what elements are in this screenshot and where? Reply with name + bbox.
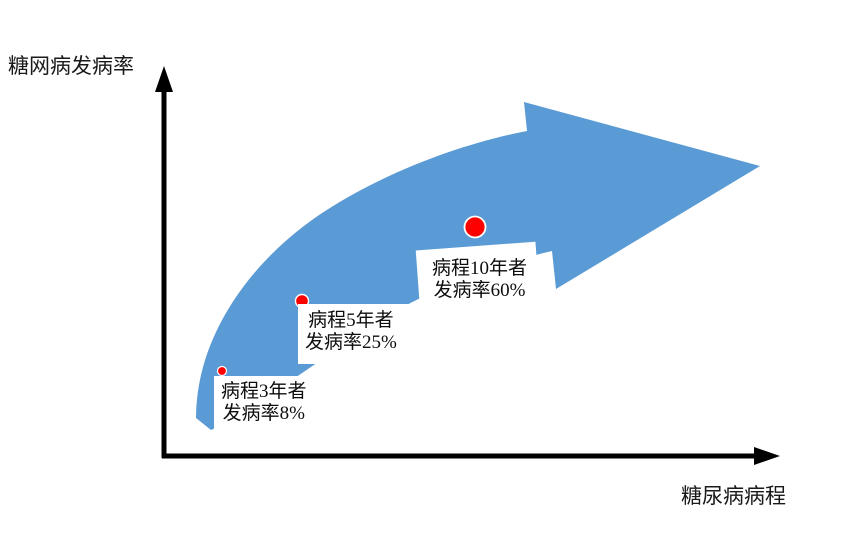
- callout-3yr: 病程3年者 发病率8%: [221, 381, 307, 426]
- callout-5yr: 病程5年者 发病率25%: [305, 310, 397, 355]
- callout-10yr: 病程10年者 发病率60%: [432, 258, 527, 303]
- data-point-marker-3yr: [218, 367, 227, 376]
- callout-3yr-line1: 病程3年者: [221, 381, 307, 403]
- horizontal-axis-arrow: [162, 447, 780, 465]
- x-axis-label: 糖尿病病程: [681, 480, 786, 510]
- callout-3yr-line2: 发病率8%: [221, 403, 307, 425]
- callout-5yr-line1: 病程5年者: [305, 310, 397, 332]
- vertical-axis-arrow: [155, 66, 173, 458]
- y-axis-label: 糖网病发病率: [8, 50, 134, 80]
- callout-10yr-line1: 病程10年者: [432, 258, 527, 280]
- callout-10yr-line2: 发病率60%: [432, 280, 527, 302]
- data-point-marker-10yr: [465, 217, 486, 238]
- callout-5yr-line2: 发病率25%: [305, 332, 397, 354]
